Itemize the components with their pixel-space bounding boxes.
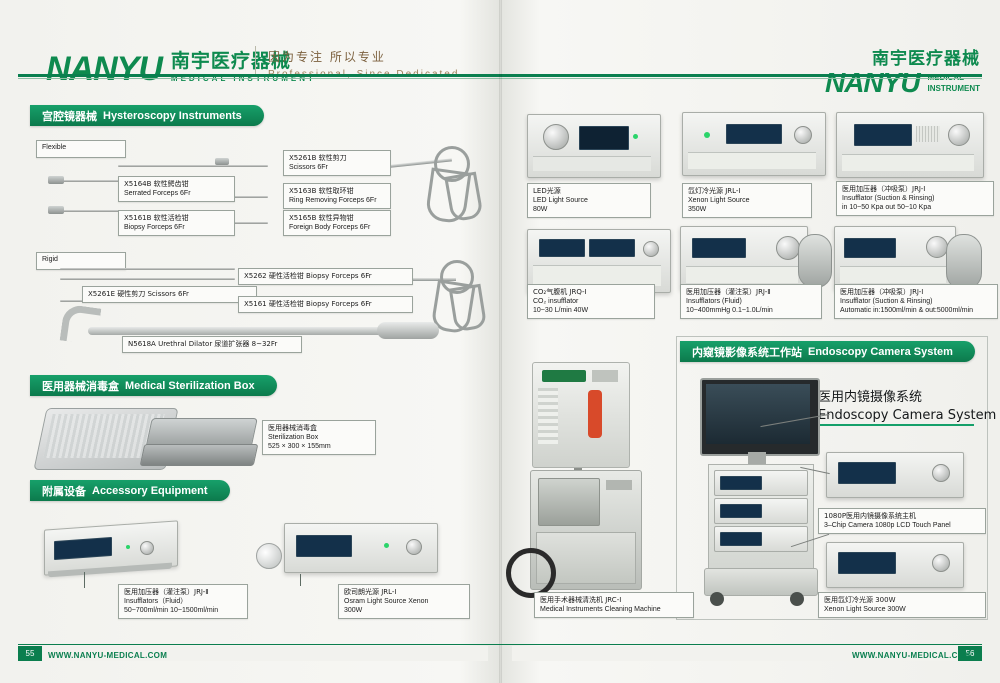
instrument-shaft xyxy=(60,180,120,182)
device-label-en: LED Light Source xyxy=(533,196,645,205)
sterilization-box-base xyxy=(140,444,259,466)
device-label-cn: CO₂气腹机 JRQ-Ⅰ xyxy=(533,288,649,297)
device-label: 医用加压器（冲吸泵）JRJ-Ⅰ Insufflator (Suction & R… xyxy=(836,181,994,216)
instrument-shaft xyxy=(118,165,268,167)
device-figure-osram-light-source xyxy=(256,515,456,585)
sterilization-box-label: 医用器械消毒盒 Sterilization Box 525 × 300 × 15… xyxy=(262,420,376,455)
section-title-sterilization-en: Medical Sterilization Box xyxy=(125,380,255,392)
instrument-label-cn: X5262 硬性活检钳 Biopsy Forceps 6Fr xyxy=(244,272,407,281)
brand-logo-right: 南宇医疗器械 NANYU MEDICAL INSTRUMENT xyxy=(825,44,980,97)
sterilization-box-en: Sterilization Box xyxy=(268,433,370,442)
device-label-cn: 医用手术器械清洗机 JRC-Ⅰ xyxy=(540,596,688,605)
instrument-label-cn: N5618A Urethral Dilator 尿道扩张器 8~32Fr xyxy=(128,340,296,349)
device-label-spec: 350W xyxy=(688,205,806,214)
group-label-flexible: Flexible xyxy=(36,140,126,158)
instrument-label-cn: X5161B 软性活检钳 xyxy=(124,214,229,223)
accessory-label-cn: 欧司朗光源 JRL-Ⅰ xyxy=(344,588,464,597)
page-gutter xyxy=(499,0,502,683)
instrument-label-cn: X5164B 软性鳄齿钳 xyxy=(124,180,229,189)
instrument-label: X5165B 软性异物钳 Foreign Body Forceps 6Fr xyxy=(283,210,391,236)
endoscopy-tower-figure xyxy=(690,378,822,610)
instrument-label: X5164B 软性鳄齿钳 Serrated Forceps 6Fr xyxy=(118,176,235,202)
instrument-tip xyxy=(48,176,64,184)
device-figure-camera-host xyxy=(826,452,966,504)
device-label-cn: 医用加压器（冲吸泵）JRJ-Ⅰ xyxy=(840,288,992,297)
instrument-label-cn: X5165B 软性异物钳 xyxy=(289,214,385,223)
section-title-sterilization-cn: 医用器械消毒盒 xyxy=(42,378,119,394)
cleaning-machine-hose xyxy=(506,548,556,598)
device-label-spec: 10~400mmHg 0.1~1.0L/min xyxy=(686,306,816,315)
device-figure-insufflator-fluid xyxy=(40,515,180,577)
instrument-label-cn: X5261B 软性剪刀 xyxy=(289,154,385,163)
device-label: 医用氙灯冷光源 300W Xenon Light Source 300W xyxy=(818,592,986,618)
device-label-spec: 80W xyxy=(533,205,645,214)
section-title-hysteroscopy: 宫腔镜器械 Hysteroscopy Instruments xyxy=(30,105,264,126)
header-divider xyxy=(255,46,256,76)
group-label-flexible-text: Flexible xyxy=(42,143,120,152)
caption-underline xyxy=(818,424,974,426)
device-label-cn: 医用加压器（冲吸泵）JRJ-Ⅰ xyxy=(842,185,988,194)
device-label-cn: 1080P医用内镜摄像系统主机 xyxy=(824,512,980,521)
device-label: CO₂气腹机 JRQ-Ⅰ CO₂ insufflator 10~30 L/min… xyxy=(527,284,655,319)
device-label-spec: in 10~50 Kpa out 50~10 Kpa xyxy=(842,203,988,212)
accessory-label-en: Insufflators（Fluid） xyxy=(124,597,242,606)
accessory-label-cn: 医用加压器（灌注泵）JRJ-Ⅱ xyxy=(124,588,242,597)
instrument-label-en: Foreign Body Forceps 6Fr xyxy=(289,223,385,232)
section-title-accessory-cn: 附属设备 xyxy=(42,483,86,499)
instrument-label: X5163B 软性取环钳 Ring Removing Forceps 6Fr xyxy=(283,183,391,209)
instrument-shaft xyxy=(60,278,235,280)
device-label-en: Insufflator (Suction & Rinsing) xyxy=(842,194,988,203)
device-label: 1080P医用内镜摄像系统主机 3–Chip Camera 1080p LCD … xyxy=(818,508,986,534)
catalog-page: NANYU 南宇医疗器械 MEDICAL INSTRUMENT 因为专注 所以专… xyxy=(0,0,1000,683)
device-label-en: Xenon Light Source 300W xyxy=(824,605,980,614)
sterilization-box-cn: 医用器械消毒盒 xyxy=(268,424,370,433)
instrument-label: N5618A Urethral Dilator 尿道扩张器 8~32Fr xyxy=(122,336,302,353)
device-label: 医用加压器（冲吸泵）JRJ-Ⅰ Insufflator (Suction & R… xyxy=(834,284,998,319)
device-label-cn: 医用加压器（灌注泵）JRJ-Ⅱ xyxy=(686,288,816,297)
page-number-left-2: 55 xyxy=(18,646,42,661)
camera-system-big-caption-cn: 医用内镜摄像系统 xyxy=(818,386,996,405)
instrument-label-cn: X5163B 软性取环钳 xyxy=(289,187,385,196)
footer-url-left: WWW.NANYU-MEDICAL.COM xyxy=(48,651,167,660)
device-label-en: Insufflators (Fluid) xyxy=(686,297,816,306)
camera-system-big-caption: 医用内镜摄像系统 Endoscopy Camera System xyxy=(818,386,996,423)
device-label: 医用加压器（灌注泵）JRJ-Ⅱ Insufflators (Fluid) 10~… xyxy=(680,284,822,319)
device-label: 医用手术器械清洗机 JRC-Ⅰ Medical Instruments Clea… xyxy=(534,592,694,618)
device-label: LED光源 LED Light Source 80W xyxy=(527,183,651,218)
accessory-label-en: Osram Light Source Xenon xyxy=(344,597,464,606)
brand-right-cn: 南宇医疗器械 xyxy=(825,44,980,69)
camera-system-big-caption-en: Endoscopy Camera System xyxy=(818,408,996,423)
instrument-label: X5262 硬性活检钳 Biopsy Forceps 6Fr xyxy=(238,268,413,285)
accessory-label-spec: 300W xyxy=(344,606,464,615)
device-figure-xenon-300w xyxy=(826,542,966,594)
device-label-en: CO₂ insufflator xyxy=(533,297,649,306)
slogan-cn: 因为专注 所以专业 xyxy=(268,48,459,65)
device-label-spec: Automatic in:1500ml/min & out:5000ml/min xyxy=(840,306,992,315)
instrument-label-en: Ring Removing Forceps 6Fr xyxy=(289,196,385,205)
footer-url-right: WWW.NANYU-MEDICAL.COM xyxy=(852,651,971,660)
forceps-handle-figure xyxy=(382,140,492,230)
instrument-tip xyxy=(215,158,229,165)
section-title-accessory: 附属设备 Accessory Equipment xyxy=(30,480,230,501)
device-label-cn: LED光源 xyxy=(533,187,645,196)
brand-right-instrument: INSTRUMENT xyxy=(928,83,980,94)
section-title-hysteroscopy-cn: 宫腔镜器械 xyxy=(42,108,97,124)
device-label: 氙灯冷光源 JRL-Ⅰ Xenon Light Source 350W xyxy=(682,183,812,218)
instrument-label-cn: X5261E 硬性剪刀 Scissors 6Fr xyxy=(88,290,251,299)
device-label-cn: 医用氙灯冷光源 300W xyxy=(824,596,980,605)
instrument-label-en: Scissors 6Fr xyxy=(289,163,385,172)
section-title-accessory-en: Accessory Equipment xyxy=(92,485,208,497)
accessory-label-spec: 50~700ml/min 10~1500ml/min xyxy=(124,606,242,615)
device-label-cn: 氙灯冷光源 JRL-Ⅰ xyxy=(688,187,806,196)
instrument-label-en: Biopsy Forceps 6Fr xyxy=(124,223,229,232)
device-figure-xenon-light-source xyxy=(682,108,832,188)
brand-name-en: NANYU xyxy=(46,52,162,86)
device-label-en: Medical Instruments Cleaning Machine xyxy=(540,605,688,614)
device-label-en: Xenon Light Source xyxy=(688,196,806,205)
device-label-spec: 10~30 L/min 40W xyxy=(533,306,649,315)
device-figure-insufflator-suction-rinsing xyxy=(836,108,986,188)
section-title-hysteroscopy-en: Hysteroscopy Instruments xyxy=(103,110,242,122)
device-figure-cleaning-cart xyxy=(532,362,628,482)
instrument-shaft xyxy=(60,268,235,270)
leader-line xyxy=(84,572,85,588)
device-label-en: Insufflator (Suction & Rinsing) xyxy=(840,297,992,306)
group-label-rigid-text: Rigid xyxy=(42,255,120,264)
accessory-label: 欧司朗光源 JRL-Ⅰ Osram Light Source Xenon 300… xyxy=(338,584,470,619)
leader-line xyxy=(300,574,301,586)
sterilization-box-size: 525 × 300 × 155mm xyxy=(268,442,370,451)
device-label-en: 3–Chip Camera 1080p LCD Touch Panel xyxy=(824,521,980,530)
device-figure-led-light-source xyxy=(527,110,663,190)
accessory-label: 医用加压器（灌注泵）JRJ-Ⅱ Insufflators（Fluid） 50~7… xyxy=(118,584,248,619)
instrument-label: X5161B 软性活检钳 Biopsy Forceps 6Fr xyxy=(118,210,235,236)
instrument-label-en: Serrated Forceps 6Fr xyxy=(124,189,229,198)
instrument-shaft xyxy=(60,210,120,212)
instrument-label: X5261B 软性剪刀 Scissors 6Fr xyxy=(283,150,391,176)
section-title-sterilization: 医用器械消毒盒 Medical Sterilization Box xyxy=(30,375,277,396)
footer-rule xyxy=(18,644,982,645)
instrument-tip xyxy=(48,206,64,214)
